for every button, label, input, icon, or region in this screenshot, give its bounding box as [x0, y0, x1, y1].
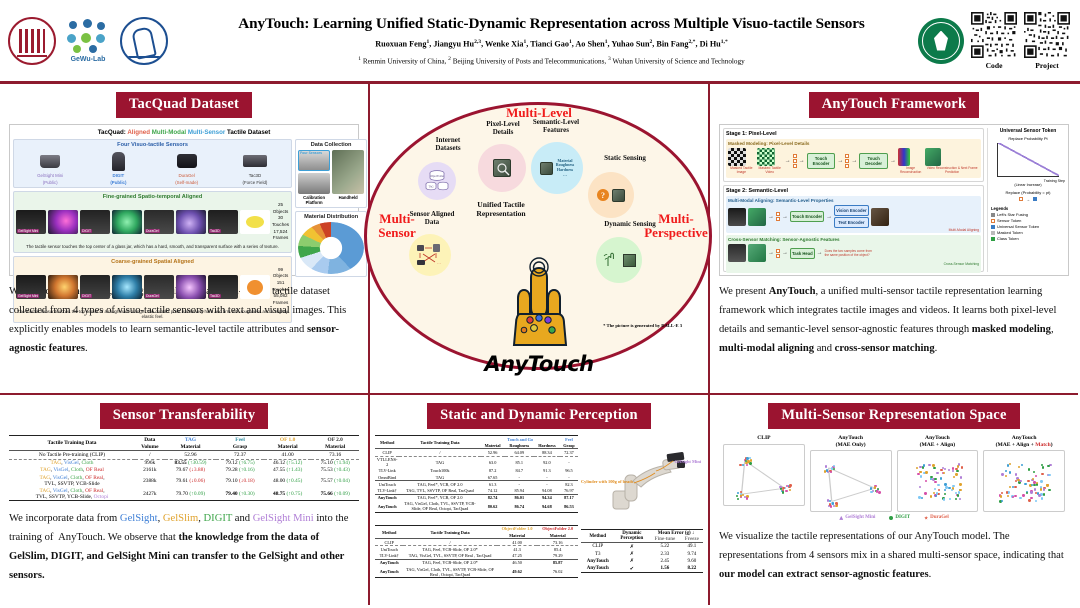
node-static-sensing: ?	[588, 172, 634, 218]
legend-label: DIGIT	[895, 515, 910, 520]
scatter-point	[956, 470, 958, 472]
material-distribution-pie	[298, 222, 364, 274]
scatter-point	[1043, 488, 1045, 490]
framework-stage-1: Stage 1: Pixel-Level Masked Modeling: Pi…	[723, 128, 984, 182]
framework-figure: Stage 1: Pixel-Level Masked Modeling: Pi…	[719, 124, 1069, 276]
scatter-point	[1041, 497, 1043, 499]
scatter-plot-mae-align	[897, 450, 979, 512]
table-header-row: Tactile Training Data Data TAG Feel OF 1…	[9, 436, 359, 444]
legend-item-gelsight-mini: GelSight Mini	[839, 515, 875, 520]
stage2-matching-flow: → → Task Head → Does the two samples com…	[728, 244, 979, 262]
cell-method: CLIP	[375, 539, 403, 546]
scatter-panel: CLIP	[723, 435, 805, 512]
scatter-point	[1009, 471, 1011, 473]
project-qr-icon[interactable]	[1024, 12, 1070, 58]
cell-value: 52.96	[481, 449, 505, 456]
scatter-point	[1014, 486, 1016, 488]
node-label-internet-datasets: InternetDatasets	[406, 136, 490, 152]
header-text-block: AnyTouch: Learning Unified Static-Dynami…	[185, 15, 918, 65]
sensor-tag: (Public)	[88, 180, 148, 186]
stage1-input-label: Masked Tactile Video	[757, 166, 783, 174]
section-title-perception: Static and Dynamic Perception	[427, 403, 651, 429]
tactile-tile: Tac3D	[208, 210, 238, 234]
scatter-point	[952, 470, 954, 472]
cell-feel: 79.28 (↑0.16)	[216, 467, 264, 474]
table-row: CLIP/41.0073.16	[375, 539, 578, 546]
col-data: Data	[135, 436, 165, 444]
section-title-transferability: Sensor Transferability	[100, 403, 269, 429]
scatter-point	[952, 485, 954, 487]
cell-of1: 47.55 (↑1.43)	[264, 467, 312, 474]
cell-value: 85.1	[505, 456, 534, 468]
svg-text:ObjectFolder: ObjectFolder	[430, 175, 444, 178]
cell-tag: 52.96	[165, 451, 217, 459]
cell-method: TLV-Link	[375, 468, 399, 474]
sensor-label: DuraGel	[157, 173, 217, 179]
table-row: UniTouchTAG, Feel, YCB-Slide, OF 2.0*41.…	[375, 546, 578, 553]
col-training-data: Tactile Training Data	[399, 436, 480, 449]
scatter-point	[747, 460, 749, 462]
scatter-point	[1041, 473, 1043, 475]
tactile-tile: DuraGel	[144, 275, 174, 299]
scatter-point	[1040, 480, 1042, 482]
scatter-point	[936, 472, 938, 474]
label-unified-tactile-representation: Unified TactileRepresentation	[451, 201, 551, 218]
cell-value: -	[534, 474, 560, 481]
tactile-tile: DIGIT	[80, 275, 110, 299]
sub-material: Material	[165, 443, 217, 451]
scatter-point	[919, 466, 921, 468]
cell-of2: 75.57 (↑0.04)	[311, 474, 359, 487]
cell-value: 41.3	[497, 546, 538, 553]
cell-method: AnyTouch	[375, 559, 403, 566]
star-icon	[924, 516, 928, 520]
scatter-point	[925, 471, 927, 473]
scatter-point	[1048, 489, 1050, 491]
stage1-output-label: Video Reconstruction & Next Frame Predic…	[925, 166, 979, 174]
sensor-item: Tac3D (Force Field)	[225, 150, 285, 185]
cell-method: VTLLENS-2	[375, 456, 399, 468]
cell-value: 94.08	[534, 487, 560, 494]
stage1-flow: Masked Tactile Image Masked Tactile Vide…	[728, 148, 979, 174]
stage2-text-encoder: Text Encoder	[834, 217, 868, 228]
section-sensor-transferability: Sensor Transferability Tactile Training …	[0, 395, 368, 586]
scatter-point	[835, 505, 837, 507]
arrow-icon: →	[768, 250, 774, 256]
legend-item: Sensor Token	[991, 218, 1065, 223]
node-label-static-sensing: Static Sensing	[583, 154, 667, 162]
scatter-point	[955, 473, 957, 475]
scatter-point	[919, 471, 921, 473]
cell-value: 46.50	[497, 559, 538, 566]
node-label-semantic-level-features: Semantic-LevelFeatures	[514, 118, 598, 134]
scatter-point	[1035, 500, 1037, 502]
scatter-point	[1001, 473, 1003, 475]
right-logo-group: Code	[918, 12, 1080, 70]
project-qr-block[interactable]: Project	[1024, 12, 1070, 70]
cell-training-data: TAG	[399, 474, 480, 481]
framework-paragraph: We present AnyTouch, a unified multi-sen…	[719, 283, 1069, 358]
legend-item: Left's Star Fusing	[991, 212, 1065, 217]
wust-logo-icon	[918, 18, 964, 64]
scatter-point	[943, 498, 945, 500]
panel-fine-grained-title: Fine-grained Spatio-temporal Aligned	[16, 194, 289, 200]
table-row: TLV-Link†TAG, TVL, SSVTP, OF Real, TacQu…	[375, 487, 578, 494]
collection-images: Four Sensors Calibration Platform Handhe…	[298, 150, 364, 205]
svg-text:…: …	[437, 260, 441, 265]
sub-material: Material	[264, 443, 312, 451]
cell-value: 94.34	[534, 494, 560, 501]
scatter-point	[1022, 494, 1024, 496]
section-anytouch-framework: AnyTouch Framework Stage 1: Pixel-Level …	[710, 84, 1078, 358]
triangle-icon	[839, 516, 843, 520]
tactile-tile	[48, 275, 78, 299]
arrow-icon: →	[837, 158, 843, 164]
sub-material: Material	[481, 442, 505, 449]
cell-value: -	[534, 481, 560, 488]
section-title-framework: AnyTouch Framework	[809, 92, 979, 118]
database-icon: ObjectFolder TAG	[424, 169, 450, 193]
node-sensor-aligned-data: …	[409, 234, 451, 276]
cell-method: T3	[581, 551, 614, 558]
scatter-title: AnyTouch(MAE + Align)	[897, 435, 979, 448]
cell-training-data: /	[403, 539, 496, 546]
legend-swatch-icon	[991, 219, 995, 223]
scatter-point	[1047, 465, 1049, 467]
scatter-panel: AnyTouch(MAE + Align + Match)	[983, 435, 1065, 512]
cell-value: 86.53	[560, 501, 578, 513]
col-group-touch-and-go: Touch and Go	[481, 436, 560, 443]
legend-item: Masked Token	[991, 230, 1065, 235]
scatter-point	[1005, 470, 1007, 472]
panel-material-distribution: Material Distribution	[295, 211, 367, 277]
scatter-point	[1049, 464, 1051, 466]
table-row: TLV-Link†TAG, VisGel, TVL, SSVTP, OF Rea…	[375, 553, 578, 560]
cube-icon	[623, 254, 636, 267]
scatter-point	[1024, 483, 1026, 485]
col-mean-error: Mean Error (g) ↓	[649, 530, 703, 537]
legend-label: Universal Sensor Token	[997, 224, 1039, 229]
universal-sensor-token-icon	[1033, 197, 1037, 201]
table-row: OmniBindTAG67.65---	[375, 474, 578, 481]
poster-title: AnyTouch: Learning Unified Static-Dynami…	[191, 15, 912, 32]
scatter-point	[1046, 484, 1048, 486]
transferability-paragraph: We incorporate data from GelSight, GelSl…	[9, 510, 359, 585]
scatter-point	[959, 498, 961, 500]
sensor-item: GelSight Mini (Public)	[20, 150, 80, 185]
scatter-point	[960, 476, 962, 478]
cell-value: -	[560, 456, 578, 468]
col-of2: OF 2.0	[311, 436, 359, 444]
node-dynamic-sensing	[596, 237, 642, 283]
sensor-label: Tac3D	[225, 173, 285, 179]
cell-value: 82.3	[560, 481, 578, 488]
sub-material: Material	[497, 532, 538, 539]
cell-method: AnyTouch	[375, 566, 403, 578]
universal-sensor-token-panel: Universal Sensor Token Replace Probabili…	[987, 128, 1065, 272]
scatter-point	[1048, 474, 1050, 476]
perception-table-3: Method DynamicPerception Mean Error (g) …	[581, 529, 703, 573]
cell-training-data: /	[399, 449, 480, 456]
poster-header: GeWu-Lab AnyTouch: Learning Unified Stat…	[0, 0, 1080, 84]
scatter-point	[779, 486, 781, 488]
ust-probability-plot	[997, 143, 1059, 177]
perception-table-2: Method Tactile Training Data ObjectFolde…	[375, 525, 578, 578]
stage2-title: Stage 2: Semantic-Level	[726, 188, 981, 194]
arrow-icon: →	[1026, 197, 1030, 202]
legend-label: GelSight Mini	[845, 515, 875, 520]
code-qr-label: Code	[986, 61, 1003, 70]
cell-dynamic-perception: ✗	[614, 558, 649, 565]
scatter-point	[1007, 495, 1009, 497]
tactile-tile	[112, 275, 142, 299]
stage2-matching-panel: Cross-Sensor Matching: Sensor-Agnostic F…	[726, 235, 981, 272]
cell-training-data: TAG, VisGel, Cloth, OF Real,TVL, SSVTP, …	[9, 474, 135, 487]
cell-value: -	[505, 474, 534, 481]
section-title-representation: Multi-Sensor Representation Space	[768, 403, 1019, 429]
col-training-data: Tactile Training Data	[9, 436, 135, 451]
cell-value: 94.68	[534, 501, 560, 513]
arrow-icon: →	[785, 158, 791, 164]
scatter-point	[944, 468, 946, 470]
robot-sensor-label: GelSight Mini	[675, 459, 701, 464]
sensor-list: GelSight Mini (Public) DIGIT (Public)	[16, 150, 289, 185]
cell-dynamic-perception: ✗	[614, 551, 649, 558]
scatter-title: CLIP	[723, 435, 805, 442]
cell-training-data: TAG	[399, 456, 480, 468]
cell-volume: 2427k	[135, 487, 165, 501]
tactile-tile	[48, 210, 78, 234]
tactile-patch-icon	[612, 189, 625, 202]
cell-freeze: 9.60	[681, 558, 703, 565]
stage1-decoder-block: Touch Decoder	[859, 153, 888, 169]
scatter-panel: AnyTouch(MAE + Align)	[897, 435, 979, 512]
scatter-point	[1014, 495, 1016, 497]
ust-note: (Linear Increase)	[991, 183, 1065, 187]
tactile-tile	[240, 210, 270, 234]
scatter-point	[1005, 475, 1007, 477]
robot-figure: GelSight Mini Cylinder with 100g of bead…	[581, 435, 703, 513]
sensor-token-icon	[1019, 197, 1023, 201]
cell-training-data: TAG, VisGel, Cloth	[9, 459, 135, 467]
col-feel: Feel	[216, 436, 264, 444]
semantic-attributes: MaterialRoughnessHardness…	[556, 159, 574, 177]
poster-root: GeWu-Lab AnyTouch: Learning Unified Stat…	[0, 0, 1080, 608]
panel-material-distribution-title: Material Distribution	[298, 214, 364, 220]
stage1-output-label: Image Reconstruction	[898, 166, 923, 174]
tactile-tile: DuraGel	[144, 210, 174, 234]
cell-tag: 79.67 (↓3.88)	[165, 467, 217, 474]
col-objectfolder-1: ObjectFolder 1.0	[497, 525, 538, 532]
cell-training-data: TAG, VisGel, Cloth, OF Real,TVL, SSVTP, …	[9, 487, 135, 501]
scatter-plot-mae-align-match	[983, 450, 1065, 512]
scatter-point	[948, 469, 950, 471]
cell-method: AnyTouch	[375, 494, 399, 501]
tactile-patch-icon	[493, 159, 511, 177]
scatter-point	[1034, 488, 1036, 490]
cell-value: 79.29	[537, 553, 578, 560]
robot-arm-icon	[607, 439, 693, 511]
panel-fine-grained: Fine-grained Spatio-temporal Aligned Gel…	[13, 191, 292, 253]
scatter-point	[1018, 466, 1020, 468]
arrow-icon: →	[799, 158, 805, 164]
renmin-university-logo-icon	[8, 17, 56, 65]
cell-feel: 79.10 (↓0.18)	[216, 474, 264, 487]
section-static-dynamic-perception: Static and Dynamic Perception Method Tac…	[370, 395, 708, 578]
scatter-point	[1015, 473, 1017, 475]
panel-four-sensors: Four Visuo-tactile Sensors GelSight Mini…	[13, 139, 292, 188]
perception-table-3-body: CLIP✗5.2249.1T3✗2.339.74AnyTouch✗2.459.6…	[581, 543, 703, 573]
cell-of2: 75.53 (↑0.43)	[311, 467, 359, 474]
table-row: CLIP✗5.2249.1	[581, 543, 703, 551]
scatter-point	[789, 484, 791, 486]
cell-dynamic-perception: ✗	[614, 543, 649, 551]
table-row: VTLLENS-2TAG63.085.192.0-	[375, 456, 578, 468]
cell-tag: 79.70 (↑0.09)	[165, 487, 217, 501]
overview-diagram: Multi-Level Multi-Sensor Multi-Perspecti…	[370, 84, 708, 384]
legend-swatch-icon	[991, 213, 995, 217]
cell-tag: 79.61 (↓0.06)	[165, 474, 217, 487]
cell-method: AnyTouch	[581, 565, 614, 573]
cell-training-data: TAG, Feel*, YCB, OF 2.0	[399, 481, 480, 488]
legend-label: Sensor Token	[997, 218, 1021, 223]
scatter-point	[930, 476, 932, 478]
stage2-aligning-note: Multi-Modal Aligning	[728, 228, 979, 232]
legend-title: Legends	[991, 206, 1065, 211]
panel-four-sensors-title: Four Visuo-tactile Sensors	[16, 142, 289, 148]
sensor-label: GelSight Mini	[20, 173, 80, 179]
arrow-icon: →	[782, 214, 788, 220]
col-of1: OF 1.0	[264, 436, 312, 444]
framework-stage-2: Stage 2: Semantic-Level Multi-Modal Alig…	[723, 185, 984, 272]
cell-value: 85.4	[537, 546, 578, 553]
transferability-table: Tactile Training Data Data TAG Feel OF 1…	[9, 435, 359, 501]
cell-feel: 79.12 (↑6.75)	[216, 459, 264, 467]
scatter-point	[1007, 464, 1009, 466]
sensor-tag: (Self-made)	[157, 180, 217, 186]
cell-training-data: TAG, VisGel, TVL, SSVTP, OF Real , TacQu…	[403, 553, 496, 560]
tactile-tile: Tac3D	[208, 275, 238, 299]
stage2-matching-title: Cross-Sensor Matching: Sensor-Agnostic F…	[728, 237, 979, 242]
section-title-tacquad: TacQuad Dataset	[116, 92, 252, 118]
sensor-item: DuraGel (Self-made)	[157, 150, 217, 185]
perception-table-1: Method Tactile Training Data Touch and G…	[375, 435, 578, 513]
scatter-point	[1035, 475, 1037, 477]
node-label-dynamic-sensing: Dynamic Sensing	[582, 220, 678, 228]
scatter-point	[782, 491, 784, 493]
cell-method: UniTouch	[375, 481, 399, 488]
cell-freeze: 9.74	[681, 551, 703, 558]
scatter-row: CLIP AnyTouch(MAE Only) AnyTouch(MAE + A…	[719, 435, 1069, 512]
scatter-point	[1027, 480, 1029, 482]
sensor-label: DIGIT	[88, 173, 148, 179]
collection-caption: Calibration Platform	[298, 195, 330, 205]
circle-icon	[889, 516, 893, 520]
cell-training-data: TAG, Feel, YCB-Slide, OF 2.0*	[403, 546, 496, 553]
cell-value: 47.25	[497, 553, 538, 560]
project-qr-label: Project	[1035, 61, 1058, 70]
scatter-point	[1043, 493, 1045, 495]
col-objectfolder-2: ObjectFolder 2.0	[537, 525, 578, 532]
sub-material: Material	[311, 443, 359, 451]
scatter-point	[930, 495, 932, 497]
table-header-row: Method DynamicPerception Mean Error (g) …	[581, 530, 703, 537]
scatter-point	[933, 467, 935, 469]
cell-feel: 72.37	[216, 451, 264, 459]
col-dynamic-perception: DynamicPerception	[614, 530, 649, 543]
sub-roughness: Roughness	[505, 442, 534, 449]
scatter-point	[825, 465, 827, 467]
cell-fine-tune: 2.45	[649, 558, 680, 565]
left-column: TacQuad Dataset TacQuad: Aligned Multi-M…	[0, 84, 370, 605]
scatter-point	[955, 498, 957, 500]
node-pixel-level-details	[478, 144, 526, 192]
scatter-point	[1028, 468, 1030, 470]
affiliation-list: 1 Renmin University of China, 2 Beijing …	[191, 56, 912, 65]
scatter-point	[829, 503, 831, 505]
stage2-matching-question: Does the two samples come from the same …	[825, 249, 873, 257]
legend-swatch-icon	[991, 231, 995, 235]
table-row: No Tactile Pre-training (CLIP) / 52.96 7…	[9, 451, 359, 459]
cell-value: -	[505, 481, 534, 488]
tacquad-figure-caption: TacQuad: Aligned Multi-Modal Multi-Senso…	[13, 129, 355, 136]
table-header-row: Method Tactile Training Data ObjectFolde…	[375, 525, 578, 532]
left-logo-group: GeWu-Lab	[0, 17, 185, 65]
col-training-data: Tactile Training Data	[403, 525, 496, 538]
scatter-point	[1028, 499, 1030, 501]
poster-body-grid: TacQuad Dataset TacQuad: Aligned Multi-M…	[0, 84, 1080, 605]
scatter-point	[916, 467, 918, 469]
cell-volume: /	[135, 451, 165, 459]
cell-volume: 2161k	[135, 467, 165, 474]
scatter-point	[948, 487, 950, 489]
code-qr-icon[interactable]	[971, 12, 1017, 58]
fine-grained-strip: GelSight Mini DIGIT DuraGel Tac3D	[16, 202, 289, 242]
scatter-point	[949, 498, 951, 500]
collection-item: Four Sensors Calibration Platform	[298, 150, 330, 205]
cell-value: 85.94	[505, 487, 534, 494]
cell-fine-tune: 1.56	[649, 565, 680, 573]
scatter-title: AnyTouch(MAE Only)	[810, 435, 892, 448]
cell-training-data: TAG, Feel*, YCB, OF 2.0	[399, 494, 480, 501]
code-qr-block[interactable]: Code	[971, 12, 1017, 70]
scatter-point	[1017, 479, 1019, 481]
table-row: TAG, VisGel, Cloth 996k 83.55 (↑30.59) 7…	[9, 459, 359, 467]
cell-of1: 46.12 (↑5.12)	[264, 459, 312, 467]
node-internet-datasets: ObjectFolder TAG	[418, 162, 456, 200]
col-method: Method	[375, 525, 403, 538]
collection-item: Handheld	[332, 150, 364, 205]
right-column: AnyTouch Framework Stage 1: Pixel-Level …	[710, 84, 1078, 605]
table-row: TAG, VisGel, Cloth, OF Real,TVL, SSVTP, …	[9, 487, 359, 501]
stage2-aligning-panel: Multi-Modal Aligning: Semantic-Level Pro…	[726, 196, 981, 233]
col-group-feel: Feel	[560, 436, 578, 443]
scatter-point	[959, 483, 961, 485]
cell-fine-tune: 2.33	[649, 551, 680, 558]
dalle-footnote: * The picture is generated by DALL-E 3	[603, 323, 682, 328]
scatter-point	[1021, 464, 1023, 466]
stage2-aligning-flow: → → Touch Encoder → Vision Encoder Text …	[728, 205, 979, 228]
scatter-point	[1033, 484, 1035, 486]
col-method: Method	[581, 530, 614, 543]
arrow-icon: →	[890, 158, 896, 164]
hand-swipe-icon	[603, 252, 621, 268]
table-row: T3✗2.339.74	[581, 551, 703, 558]
stage1-input-label: Masked Tactile Image	[728, 166, 755, 174]
cell-value: 85.87	[537, 559, 578, 566]
section-representation-space: Multi-Sensor Representation Space CLIP A…	[710, 395, 1078, 585]
table-row: AnyTouchTAG, VisGel, Cloth, TVL, SSVTP, …	[375, 566, 578, 578]
